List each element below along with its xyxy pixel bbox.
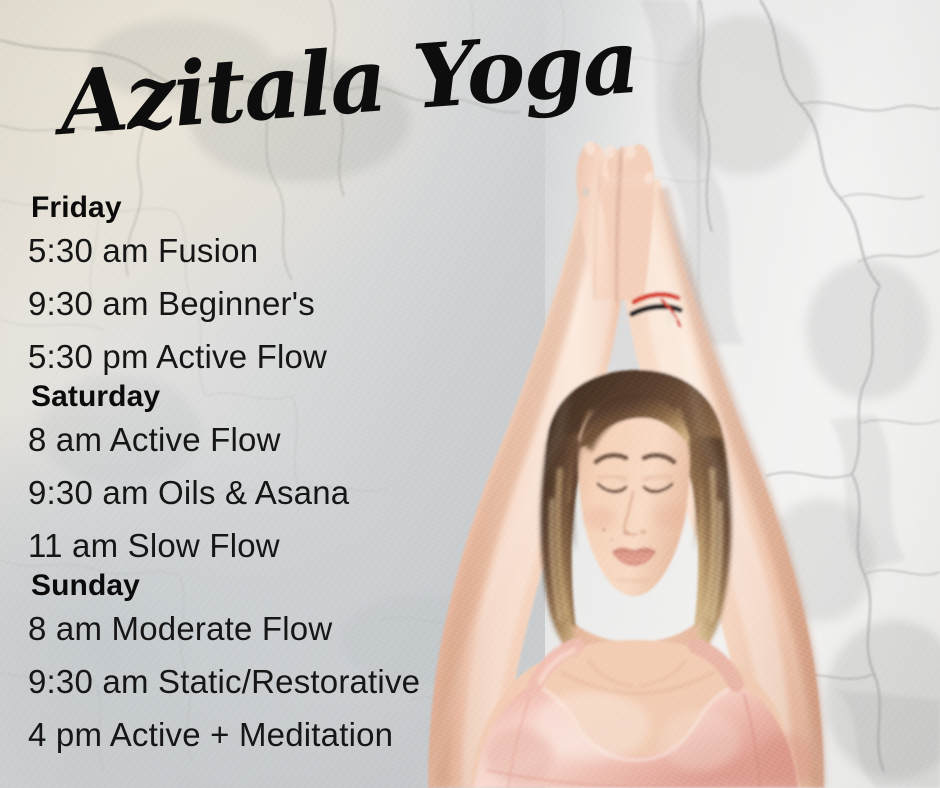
class-schedule: Friday 5:30 am Fusion 9:30 am Beginner's… (28, 193, 548, 751)
class-item: 8 am Active Flow (28, 423, 548, 456)
day-heading-sunday: Sunday (28, 571, 548, 601)
class-item: 5:30 am Fusion (28, 234, 548, 267)
class-item: 8 am Moderate Flow (28, 612, 548, 645)
day-heading-saturday: Saturday (28, 382, 548, 412)
class-item: 11 am Slow Flow (28, 529, 548, 562)
day-heading-friday: Friday (28, 193, 548, 223)
class-item: 9:30 am Static/Restorative (28, 665, 548, 698)
class-item: 4 pm Active + Meditation (28, 718, 548, 751)
class-item: 9:30 am Oils & Asana (28, 476, 548, 509)
class-item: 9:30 am Beginner's (28, 287, 548, 320)
yoga-schedule-poster: Azitala Yoga Friday 5:30 am Fusion 9:30 … (0, 0, 940, 788)
class-item: 5:30 pm Active Flow (28, 340, 548, 373)
